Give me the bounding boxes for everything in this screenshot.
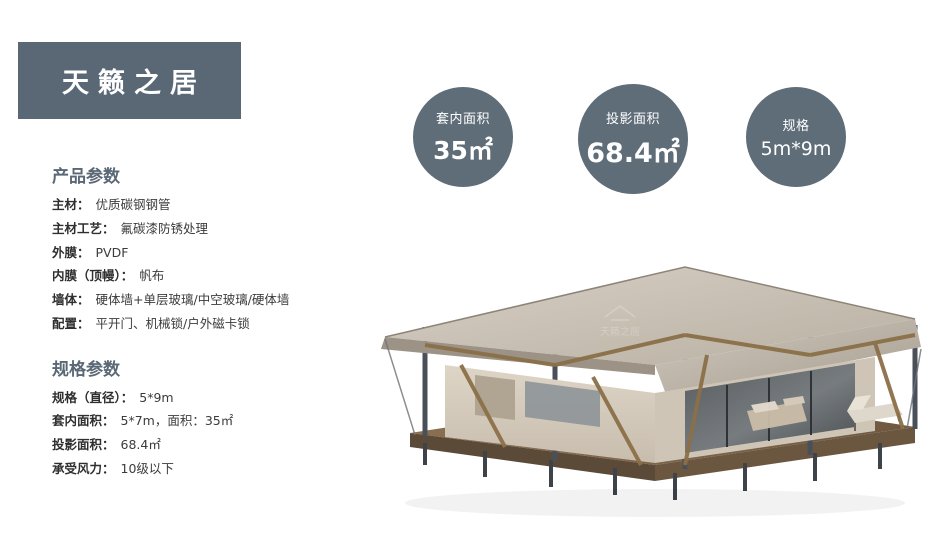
spec-value: 5*9m bbox=[139, 391, 173, 405]
tent-house-rendering bbox=[355, 215, 935, 520]
spec-key: 主材工艺： bbox=[52, 222, 115, 236]
spec-value: 优质碳钢钢管 bbox=[96, 198, 171, 212]
spec-row: 墙体： 硬体墙+单层玻璃/中空玻璃/硬体墙 bbox=[52, 293, 382, 307]
spec-value: 氟碳漆防锈处理 bbox=[121, 222, 209, 236]
spec-key: 主材： bbox=[52, 198, 90, 212]
spec-key: 规格（直径）： bbox=[52, 391, 133, 405]
stat-circle-dimensions: 规格 5m*9m bbox=[746, 87, 846, 187]
side-window-frame bbox=[475, 375, 515, 420]
spec-row: 主材工艺： 氟碳漆防锈处理 bbox=[52, 222, 382, 236]
spec-key: 承受风力： bbox=[52, 462, 115, 476]
stat-value: 68.4㎡ bbox=[586, 131, 680, 170]
stat-circle-interior-area: 套内面积 35㎡ bbox=[413, 87, 513, 187]
title-banner: 天籁之居 bbox=[18, 42, 241, 119]
section-heading-product: 产品参数 bbox=[52, 162, 382, 187]
specifications-panel: 产品参数 主材： 优质碳钢钢管 主材工艺： 氟碳漆防锈处理 外膜： PVDF 内… bbox=[52, 162, 382, 486]
spec-value: PVDF bbox=[96, 246, 129, 260]
stat-label: 投影面积 bbox=[606, 108, 660, 127]
spec-row: 承受风力： 10级以下 bbox=[52, 462, 382, 476]
spec-row: 外膜： PVDF bbox=[52, 246, 382, 260]
spec-value: 5*7m，面积：35㎡ bbox=[121, 414, 234, 428]
ground-shadow bbox=[405, 489, 905, 517]
stat-label: 套内面积 bbox=[436, 108, 490, 127]
spec-key: 内膜（顶幔）： bbox=[52, 269, 133, 283]
spec-value: 帆布 bbox=[139, 269, 164, 283]
spec-row: 规格（直径）： 5*9m bbox=[52, 391, 382, 405]
spec-value: 硬体墙+单层玻璃/中空玻璃/硬体墙 bbox=[96, 293, 290, 307]
spec-row: 内膜（顶幔）： 帆布 bbox=[52, 269, 382, 283]
spec-key: 套内面积： bbox=[52, 414, 115, 428]
spec-key: 外膜： bbox=[52, 246, 90, 260]
page-title: 天籁之居 bbox=[53, 61, 206, 100]
stat-value: 35㎡ bbox=[433, 131, 493, 167]
spec-key: 墙体： bbox=[52, 293, 90, 307]
stat-circle-projected-area: 投影面积 68.4㎡ bbox=[578, 84, 688, 194]
section-heading-spec: 规格参数 bbox=[52, 355, 382, 380]
spec-key: 投影面积： bbox=[52, 438, 115, 452]
spec-value: 68.4㎡ bbox=[121, 438, 161, 452]
spec-row: 投影面积： 68.4㎡ bbox=[52, 438, 382, 452]
spec-value: 10级以下 bbox=[121, 462, 174, 476]
spec-key: 配置： bbox=[52, 317, 90, 331]
spec-value: 平开门、机械锁/户外磁卡锁 bbox=[96, 317, 250, 331]
stat-value: 5m*9m bbox=[761, 138, 832, 160]
spec-row: 主材： 优质碳钢钢管 bbox=[52, 198, 382, 212]
spec-row: 套内面积： 5*7m，面积：35㎡ bbox=[52, 414, 382, 428]
stat-label: 规格 bbox=[782, 115, 809, 134]
spec-row: 配置： 平开门、机械锁/户外磁卡锁 bbox=[52, 317, 382, 331]
poster-page: 天籁之居 产品参数 主材： 优质碳钢钢管 主材工艺： 氟碳漆防锈处理 外膜： P… bbox=[0, 0, 950, 534]
